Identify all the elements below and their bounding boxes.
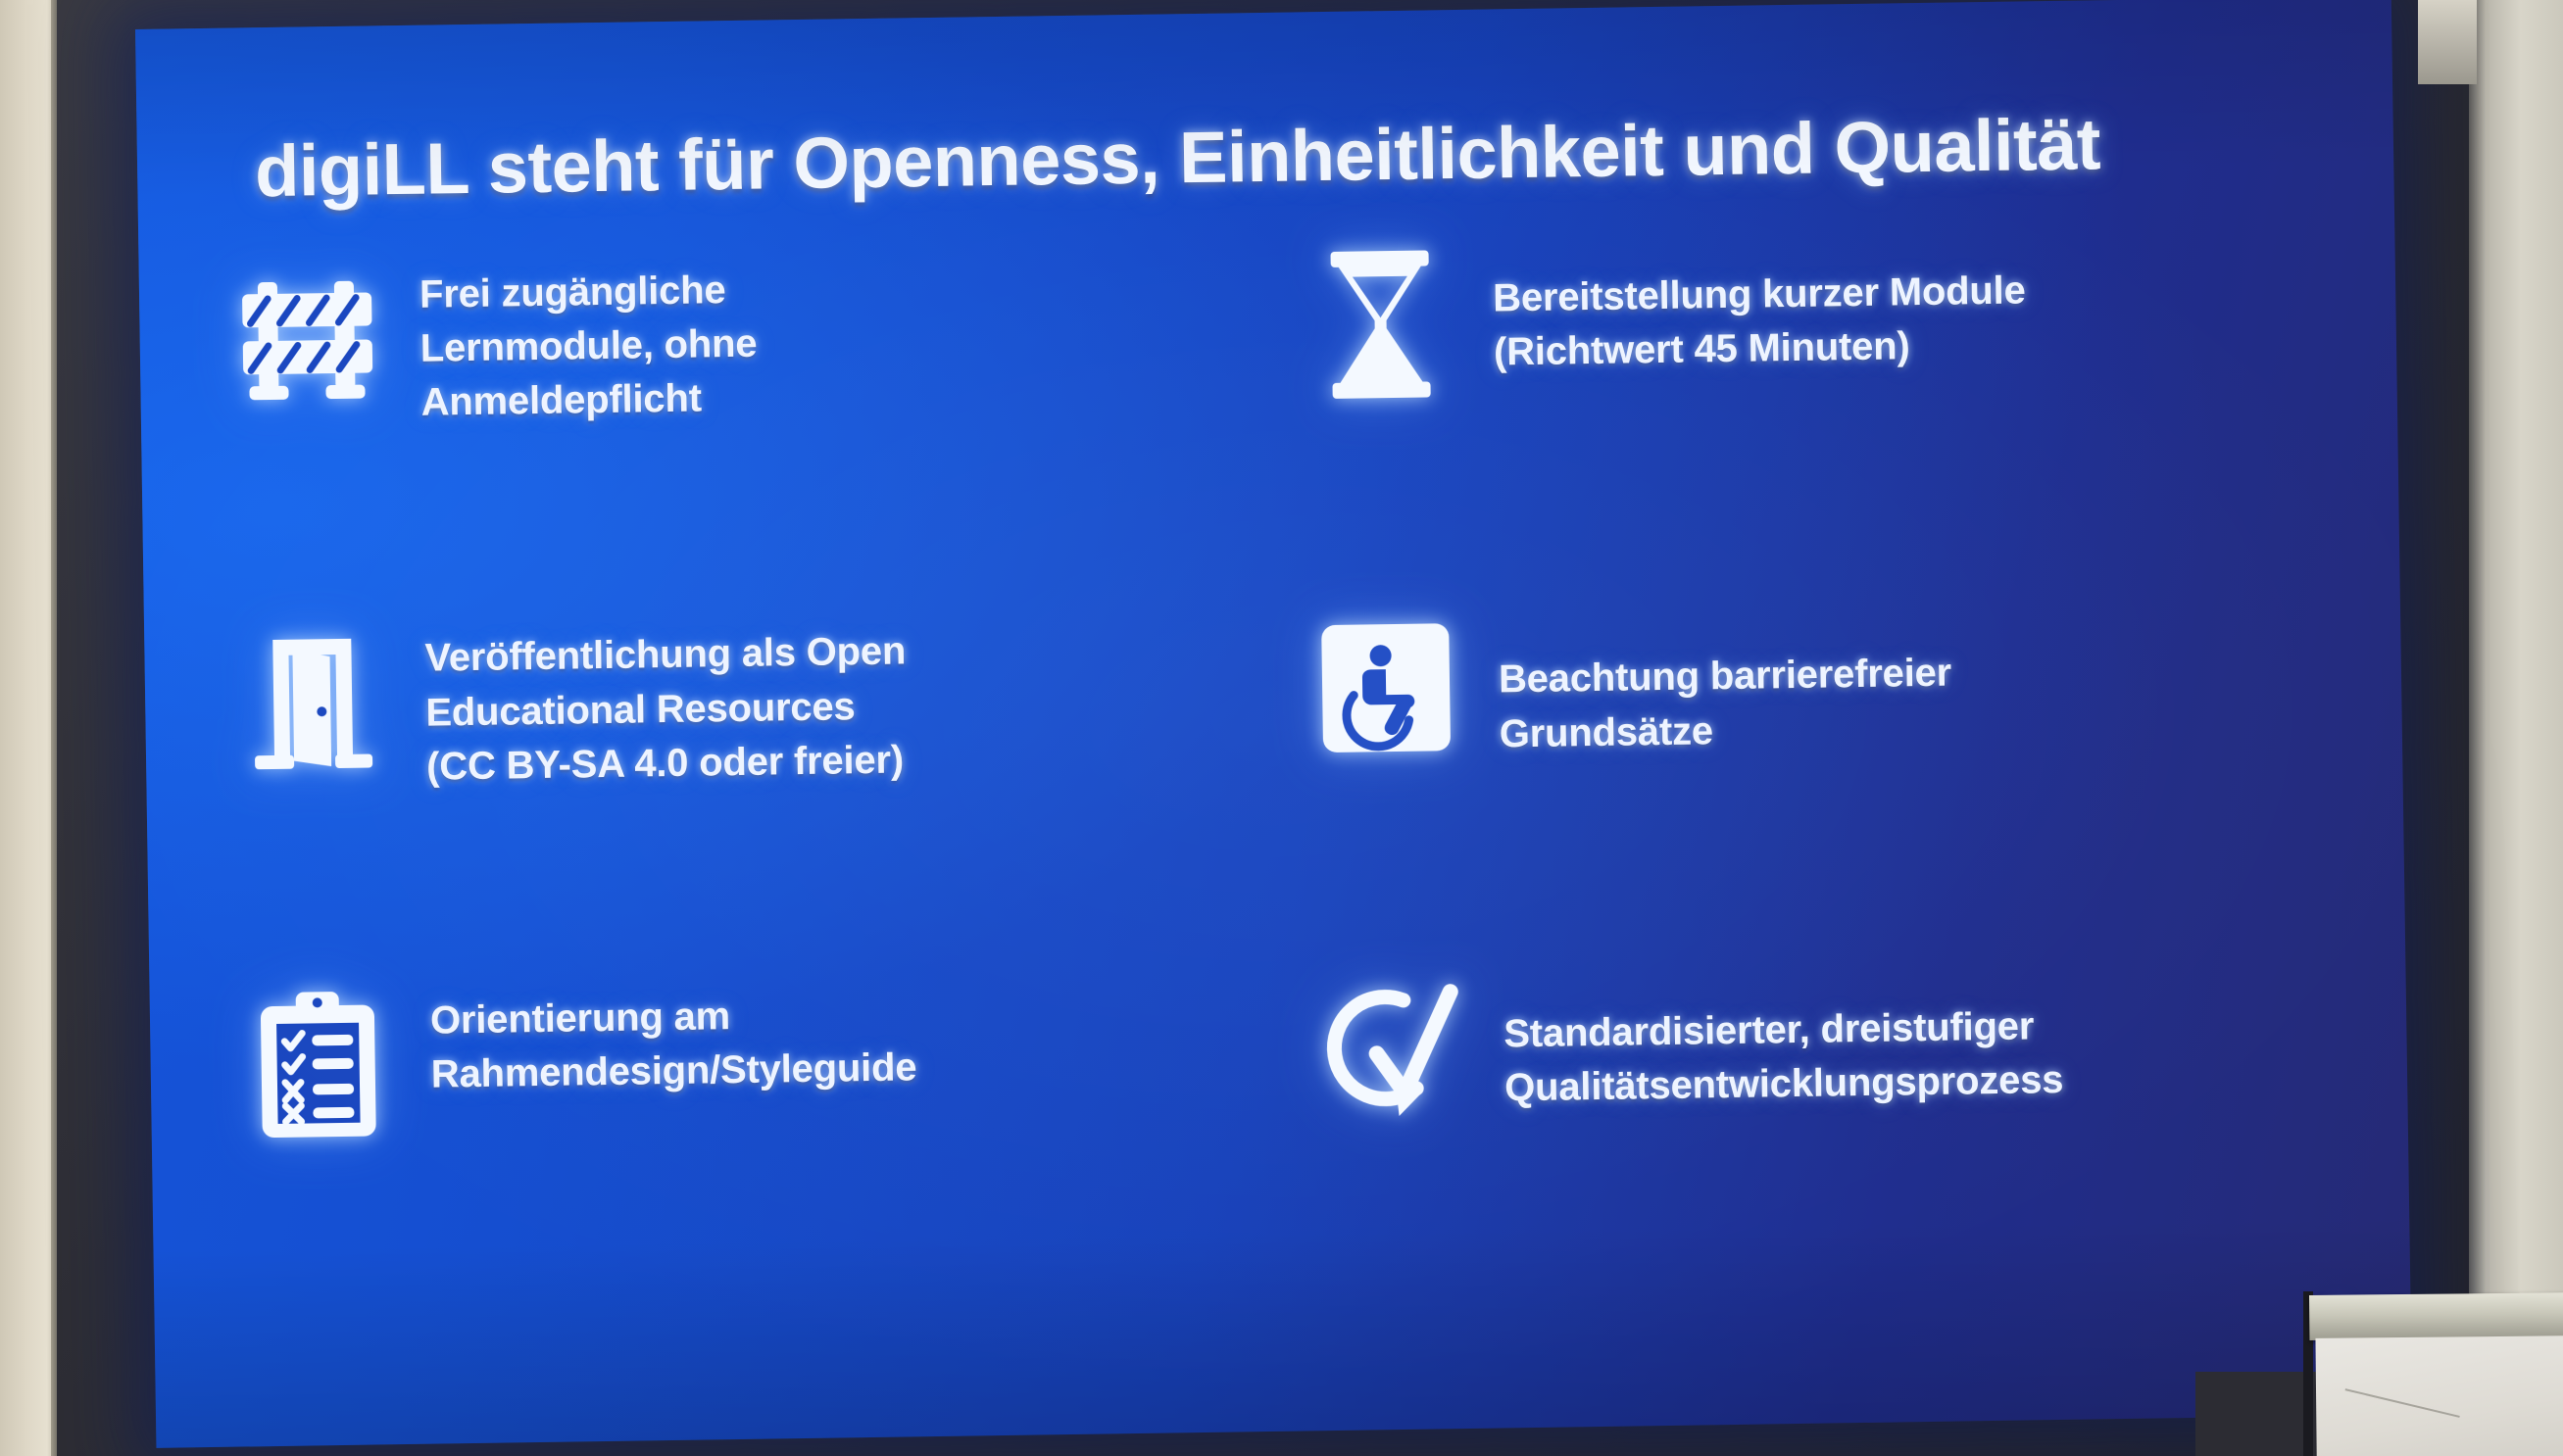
feature-text: Orientierung am Rahmendesign/Styleguide [429, 973, 916, 1102]
feature-text: Beachtung barrierefreier Grundsätze [1498, 596, 1952, 761]
feature-line: Veröffentlichung als Open [424, 625, 906, 686]
feature-item-veroeffentlichung-als-oer: Veröffentlichung als Open Educational Re… [238, 607, 1248, 938]
feature-line: Bereitstellung kurzer Module [1493, 264, 2026, 325]
feature-line: Grundsätze [1499, 701, 1952, 761]
wheelchair-accessibility-icon [1311, 608, 1460, 767]
slide-title: digiLL steht für Openness, Einheitlichke… [255, 104, 2275, 210]
feature-item-qualitaetsentwicklungsprozess: Standardisierter, dreistufiger Qualitäts… [1316, 952, 2325, 1269]
hourglass-icon [1306, 245, 1454, 404]
clipboard-checklist-icon [244, 987, 393, 1145]
flipchart-pad [2309, 1292, 2563, 1456]
projection-photo-scene: digiLL steht für Openness, Einheitlichke… [0, 0, 2563, 1456]
flipchart-rail [2309, 1292, 2563, 1340]
feature-line: (Richtwert 45 Minuten) [1494, 318, 2027, 380]
feature-line: Anmeldepflicht [420, 371, 758, 430]
feature-text: Standardisierter, dreistufiger Qualitäts… [1503, 956, 2063, 1116]
feature-item-orientierung-styleguide: Orientierung am Rahmendesign/Styleguide [243, 968, 1252, 1285]
barrier-icon [233, 261, 382, 419]
open-door-icon [238, 625, 387, 784]
feature-line: Qualitätsentwicklungsprozess [1504, 1053, 2064, 1116]
feature-item-barrierefreie-grundsaetze: Beachtung barrierefreier Grundsätze [1311, 590, 2321, 921]
feature-line: Lernmodule, ohne [419, 317, 757, 376]
feature-line: Orientierung am [430, 987, 916, 1048]
feature-line: Rahmendesign/Styleguide [430, 1041, 916, 1102]
wall-left [0, 0, 59, 1456]
flipchart-sheet [2315, 1335, 2563, 1456]
feature-text: Frei zugängliche Lernmodule, ohne Anmeld… [419, 250, 758, 431]
flipchart-crease [2345, 1388, 2460, 1418]
feature-line: Educational Resources [425, 679, 907, 740]
feature-line: Frei zugängliche [419, 264, 757, 322]
wall-right-top-highlight [2418, 0, 2477, 84]
feature-line: Standardisierter, dreistufiger [1503, 999, 2063, 1062]
feature-line: Beachtung barrierefreier [1499, 647, 1952, 707]
feature-line: (CC BY-SA 4.0 oder freier) [426, 733, 908, 794]
feature-text: Veröffentlichung als Open Educational Re… [424, 611, 908, 795]
feature-text: Bereitstellung kurzer Module (Richtwert … [1492, 230, 2026, 379]
feature-item-bereitstellung-kurzer-module: Bereitstellung kurzer Module (Richtwert … [1306, 226, 2315, 575]
presentation-slide: digiLL steht für Openness, Einheitlichke… [135, 0, 2412, 1448]
feature-grid: Frei zugängliche Lernmodule, ohne Anmeld… [232, 215, 2325, 1284]
feature-item-frei-zugaengliche-lernmodule: Frei zugängliche Lernmodule, ohne Anmeld… [232, 242, 1242, 591]
wall-right [2469, 0, 2563, 1456]
check-cycle-icon [1316, 971, 1465, 1130]
